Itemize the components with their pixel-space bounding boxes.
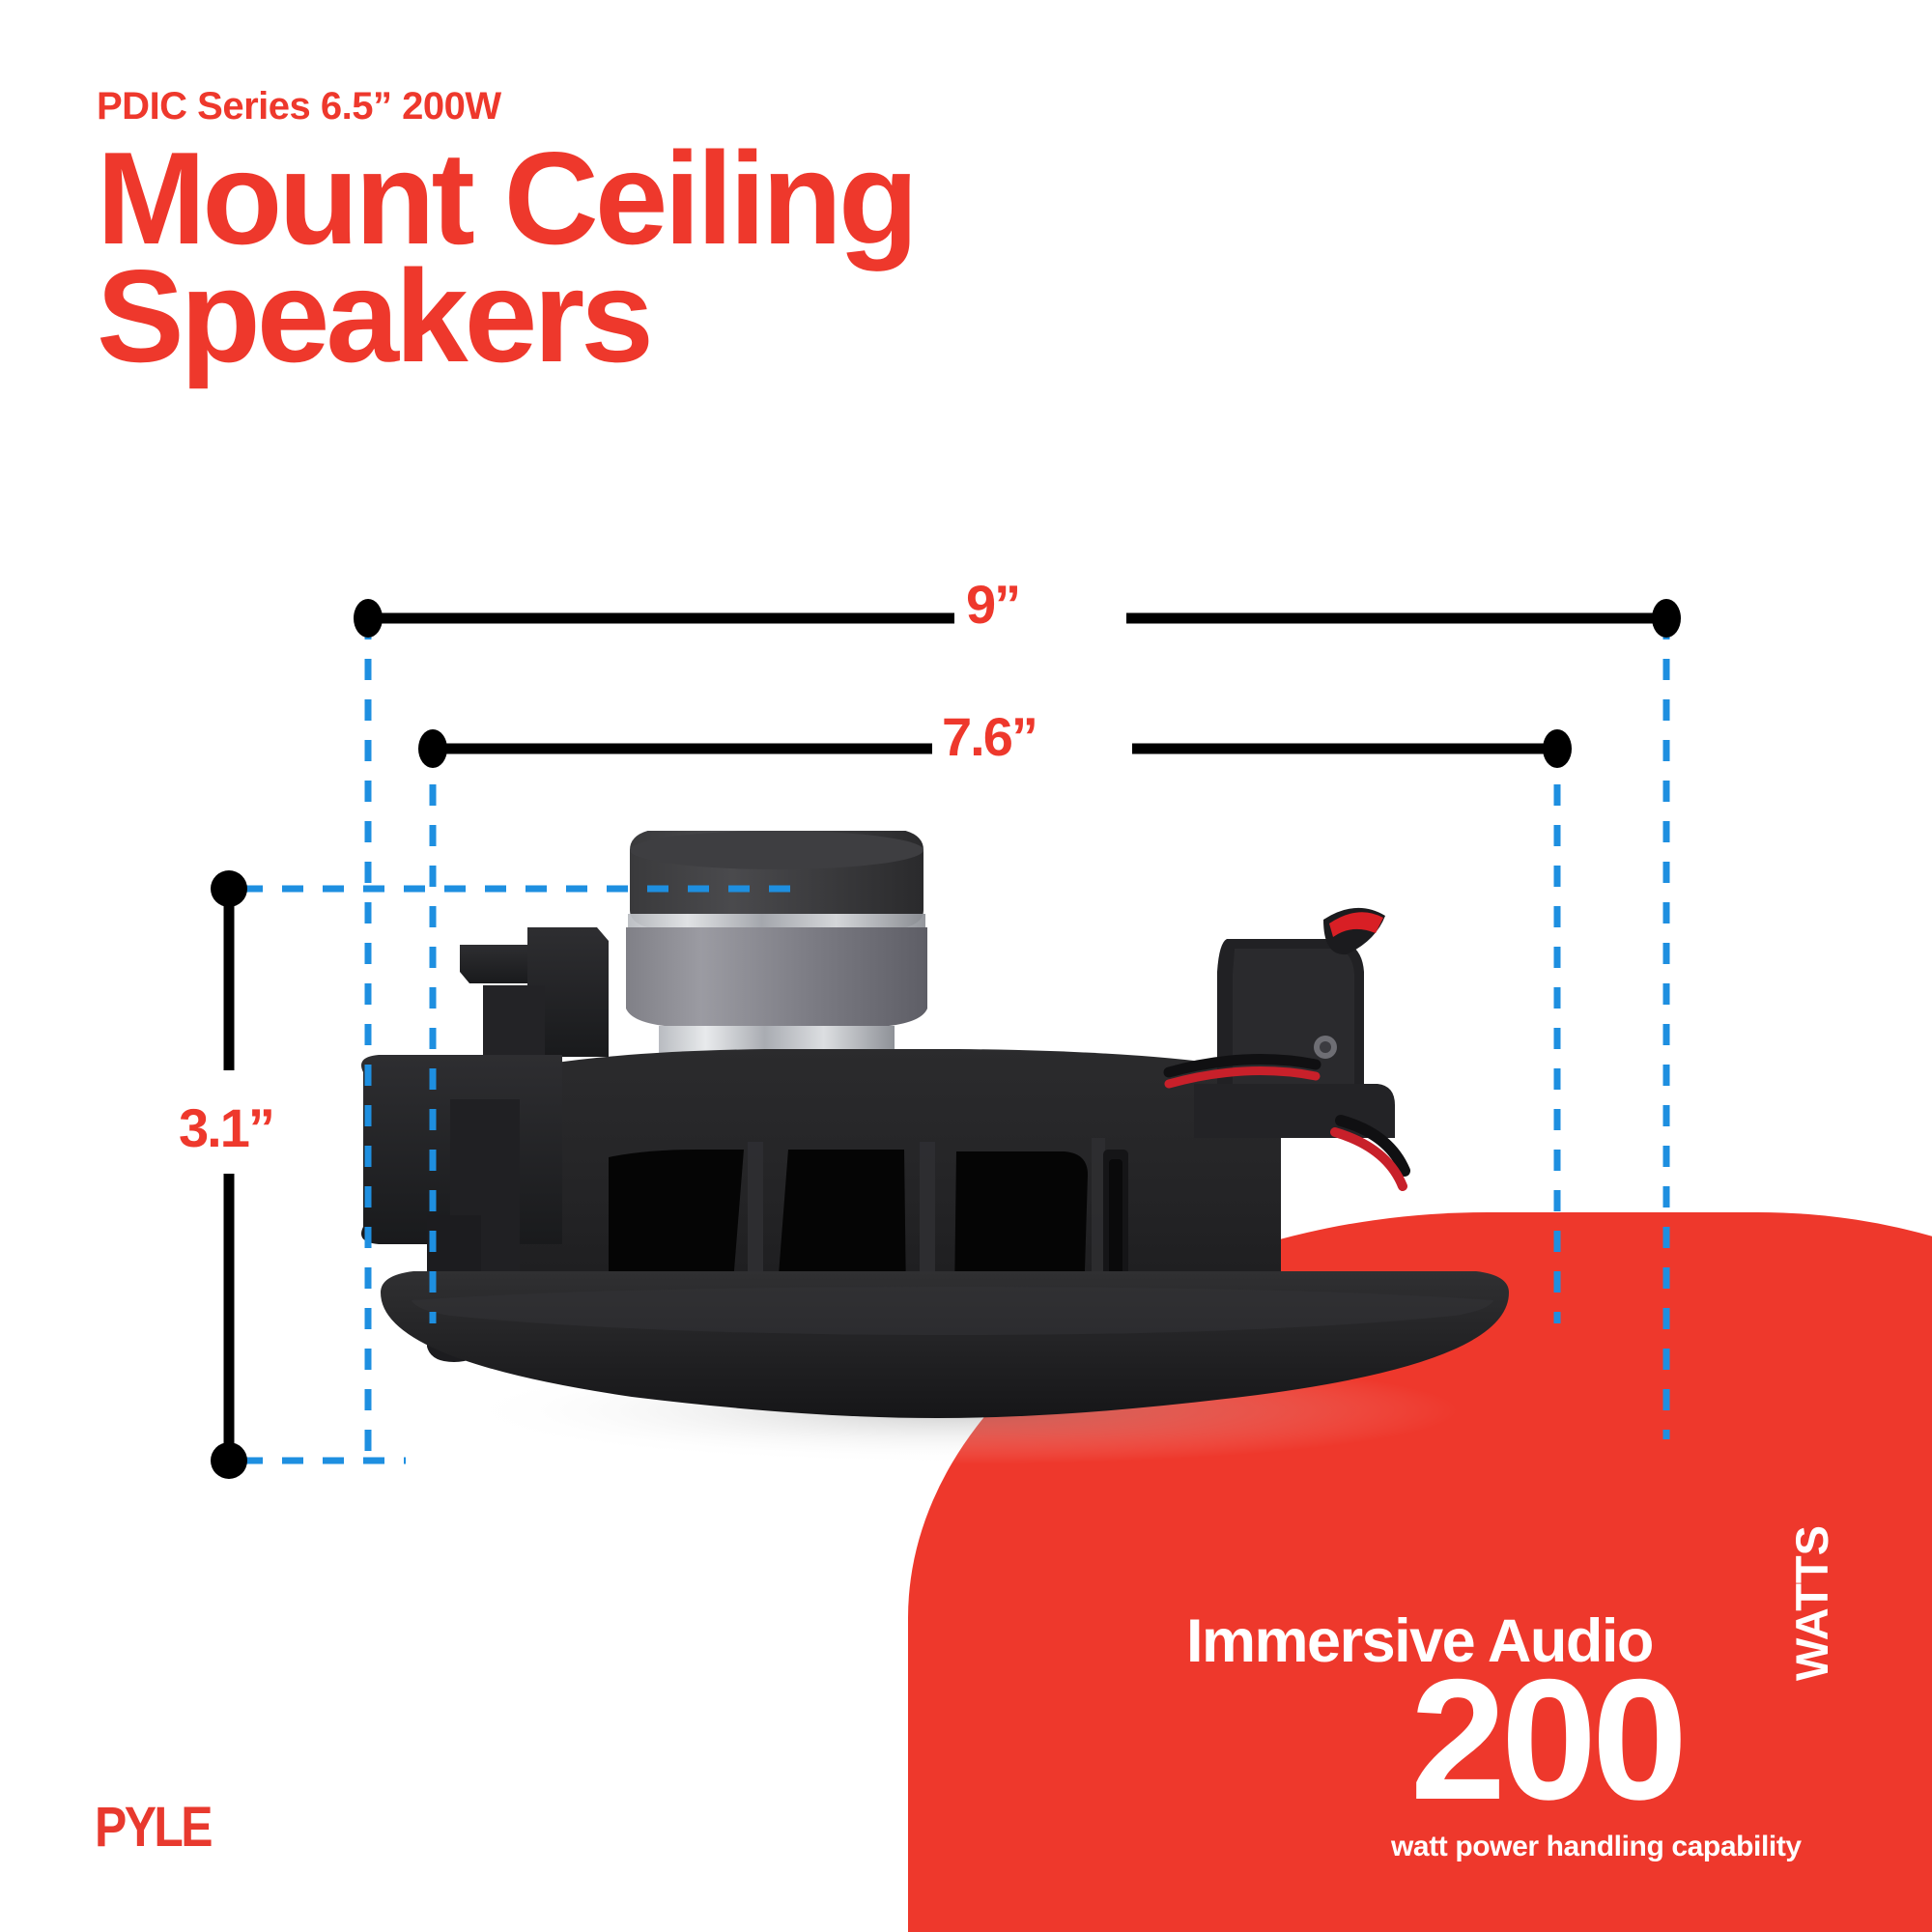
infographic-canvas: PDIC Series 6.5” 200W Mount Ceiling Spea… [0,0,1932,1932]
dim-endpoint-76-left [418,729,447,768]
product-series-eyebrow: PDIC Series 6.5” 200W [97,87,915,126]
dimension-label-width-outer: 9” [966,578,1019,632]
magnet-seam [628,914,925,927]
dim-endpoint-31-top [211,870,247,907]
dim-endpoint-76-right [1543,729,1572,768]
page-title: Mount Ceiling Speakers [97,139,915,376]
terminal-assembly [1194,908,1395,1138]
header-block: PDIC Series 6.5” 200W Mount Ceiling Spea… [97,87,915,376]
dim-endpoint-9-right [1652,599,1681,638]
dim-endpoint-31-bottom [211,1442,247,1479]
dimension-label-depth: 3.1” [179,1101,273,1155]
magnet-ring [626,927,927,1026]
page-title-line-2: Speakers [97,257,915,375]
terminal-screw-inner [1320,1041,1331,1053]
dimension-3-1in [211,870,247,1479]
badge-wattage-unit: WATTS [1785,1525,1838,1681]
pyle-logo: PYLE [95,1795,211,1860]
dimension-label-width-cutout: 7.6” [942,710,1037,764]
dim-endpoint-9-left [354,599,383,638]
product-illustration [319,831,1652,1497]
magnet-assembly [626,831,927,1065]
badge-subtext: watt power handling capability [1391,1831,1802,1863]
magnet-top-face [630,831,923,869]
badge-wattage-number: 200 [1410,1654,1683,1826]
